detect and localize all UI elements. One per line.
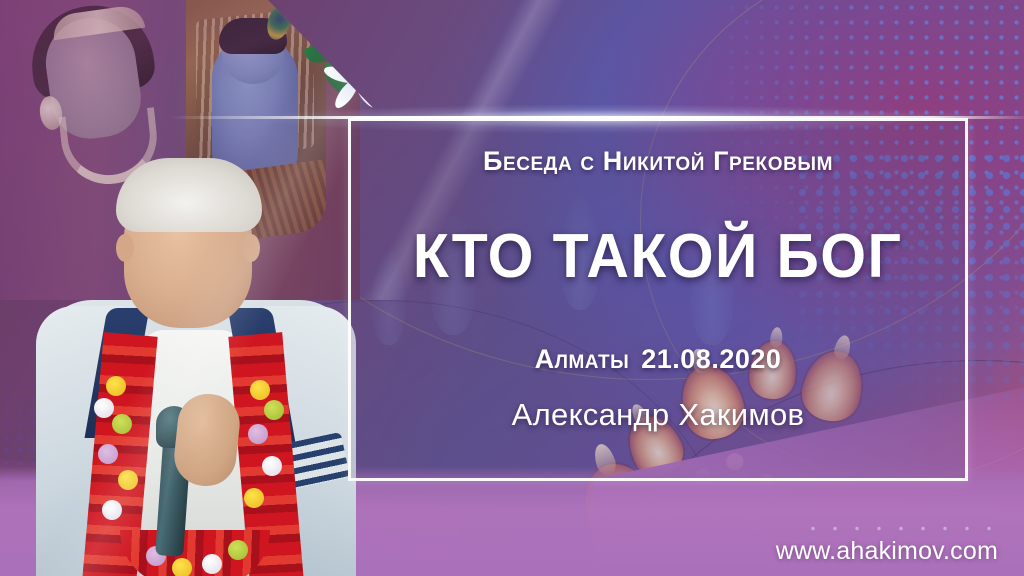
title-text-block: Беседа с Никитой Грековым КТО ТАКОЙ БОГ …: [348, 118, 968, 481]
poster-title: КТО ТАКОЙ БОГ: [413, 221, 902, 292]
presentation-poster: Беседа с Никитой Грековым КТО ТАКОЙ БОГ …: [0, 0, 1024, 576]
url-dot-row: [802, 525, 992, 532]
place-date-line: Алматы21.08.2020: [535, 344, 782, 375]
website-url: www.ahakimov.com: [776, 537, 998, 566]
place-label: Алматы: [535, 344, 630, 374]
speaker-name: Александр Хакимов: [512, 397, 805, 433]
date-label: 21.08.2020: [641, 344, 781, 374]
poster-subtitle: Беседа с Никитой Грековым: [483, 146, 833, 177]
